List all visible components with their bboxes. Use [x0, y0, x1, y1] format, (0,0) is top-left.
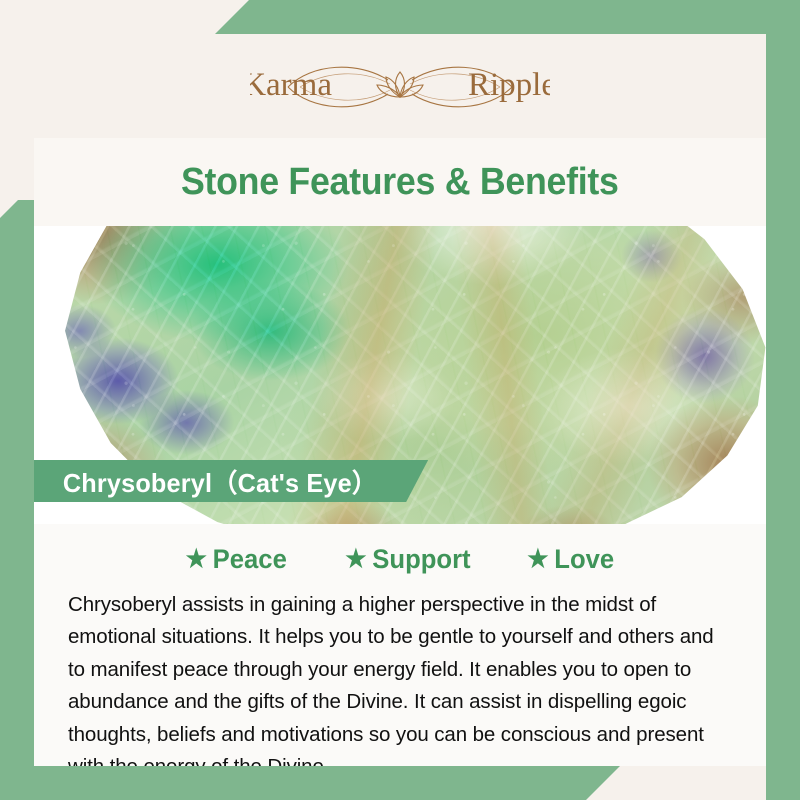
keyword-label-peace: Peace — [213, 544, 287, 575]
title-band: Stone Features & Benefits — [34, 138, 766, 226]
info-card: Karma Ripple Stone Features & Benefits C… — [34, 34, 766, 766]
stone-name-banner: Chrysoberyl（Cat's Eye） — [34, 460, 428, 502]
stone-name-label: Chrysoberyl（Cat's Eye） — [63, 463, 377, 500]
keyword-support: ★ Support — [345, 544, 470, 575]
star-icon: ★ — [186, 547, 207, 572]
star-icon: ★ — [345, 547, 366, 572]
frame-bar-top — [215, 0, 800, 34]
karma-ripple-logo-icon: Karma Ripple — [250, 53, 550, 119]
brand-word-right: Ripple — [468, 67, 550, 103]
card-body: ★ Peace ★ Support ★ Love Chrysoberyl ass… — [34, 524, 766, 766]
brand-logo: Karma Ripple — [34, 34, 766, 138]
keyword-label-support: Support — [372, 544, 470, 575]
frame-bar-bottom — [0, 766, 620, 800]
keyword-list: ★ Peace ★ Support ★ Love — [64, 544, 736, 575]
card-header: Karma Ripple Stone Features & Benefits — [34, 34, 766, 194]
star-icon: ★ — [528, 547, 549, 572]
frame-bar-right — [766, 0, 800, 800]
frame-bar-left — [0, 200, 34, 800]
stone-description: Chrysoberyl assists in gaining a higher … — [64, 589, 736, 766]
stone-photo: Chrysoberyl（Cat's Eye） — [34, 194, 766, 524]
brand-word-left: Karma — [250, 67, 332, 103]
keyword-love: ★ Love — [528, 544, 615, 575]
keyword-label-love: Love — [555, 544, 615, 575]
page-title: Stone Features & Benefits — [181, 161, 619, 204]
keyword-peace: ★ Peace — [186, 544, 287, 575]
